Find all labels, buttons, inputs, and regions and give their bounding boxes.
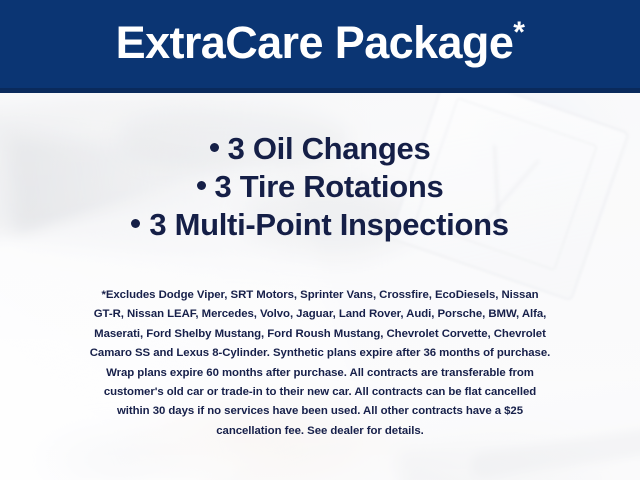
list-item: 3 Multi-Point Inspections xyxy=(0,206,640,244)
disclaimer-line: Maserati, Ford Shelby Mustang, Ford Rous… xyxy=(24,325,616,344)
page-title-asterisk: * xyxy=(513,16,524,49)
disclaimer-text-block: *Excludes Dodge Viper, SRT Motors, Sprin… xyxy=(24,286,616,441)
page-title-text: ExtraCare Package xyxy=(116,17,514,68)
disclaimer-line: cancellation fee. See dealer for details… xyxy=(24,422,616,441)
benefit-label: 3 Tire Rotations xyxy=(215,169,444,204)
disclaimer-line: *Excludes Dodge Viper, SRT Motors, Sprin… xyxy=(24,286,616,305)
benefit-label: 3 Oil Changes xyxy=(228,131,431,166)
header-banner: ExtraCare Package* xyxy=(0,0,640,88)
disclaimer-line: Camaro SS and Lexus 8-Cylinder. Syntheti… xyxy=(24,344,616,363)
bullet-icon xyxy=(210,143,219,152)
disclaimer-line: Wrap plans expire 60 months after purcha… xyxy=(24,364,616,383)
list-item: 3 Oil Changes xyxy=(0,130,640,168)
header-bottom-rule xyxy=(0,88,640,93)
disclaimer-line: GT-R, Nissan LEAF, Mercedes, Volvo, Jagu… xyxy=(24,305,616,324)
benefits-list: 3 Oil Changes 3 Tire Rotations 3 Multi-P… xyxy=(0,130,640,244)
bullet-icon xyxy=(131,219,140,228)
page-title: ExtraCare Package* xyxy=(116,20,525,68)
bullet-icon xyxy=(197,181,206,190)
disclaimer-line: within 30 days if no services have been … xyxy=(24,402,616,421)
extracare-package-promo-card: ExtraCare Package* 3 Oil Changes 3 Tire … xyxy=(0,0,640,480)
list-item: 3 Tire Rotations xyxy=(0,168,640,206)
benefit-label: 3 Multi-Point Inspections xyxy=(149,207,508,242)
disclaimer-line: customer's old car or trade-in to their … xyxy=(24,383,616,402)
